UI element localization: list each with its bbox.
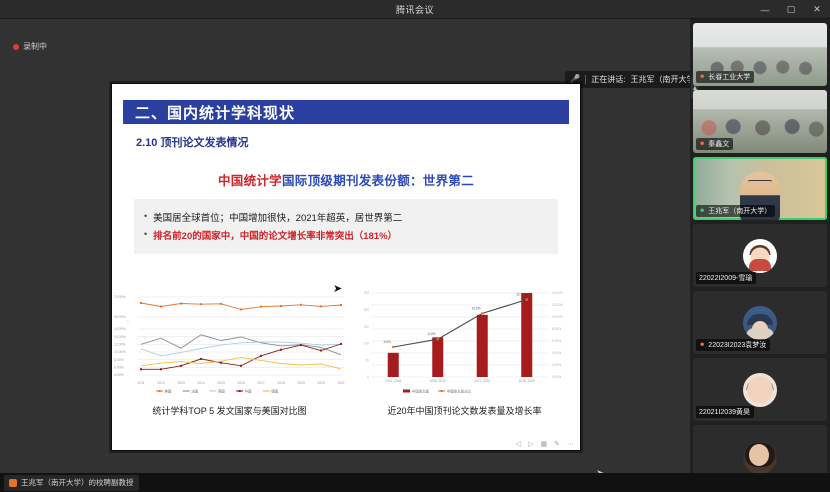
cursor-pointer-icon: ➤ <box>333 282 342 295</box>
svg-text:2001 -2005: 2001 -2005 <box>385 379 401 383</box>
bar-chart-svg: 250200150100500 14.00%12.00%10.00%8.00%6… <box>347 283 581 403</box>
svg-text:10.00%: 10.00% <box>114 350 126 354</box>
svg-text:8.00%: 8.00% <box>114 358 124 362</box>
svg-text:美国: 美国 <box>165 388 172 393</box>
speaking-prefix: 正在讲话: <box>591 74 625 85</box>
slide-footer: Zhaojun Wang (王兆军), web.stat.nankai.edu.… <box>112 450 580 451</box>
svg-text:16.00%: 16.00% <box>114 327 126 331</box>
os-taskbar[interactable]: 王兆军（南开大学）的校聘副教授 <box>0 473 830 492</box>
svg-text:2021: 2021 <box>337 381 345 385</box>
headline-red-part: 中国统计学 <box>218 174 282 188</box>
recording-indicator: 录制中 <box>13 41 47 52</box>
svg-text:2011: 2011 <box>137 381 144 385</box>
participant-tile[interactable]: ⚫ 长春工业大学 <box>693 23 827 86</box>
pen-icon[interactable]: ✎ <box>554 440 560 448</box>
bullet-text: 美国居全球首位；中国增加很快，2021年超英，居世界第二 <box>153 210 402 224</box>
tile-nameplate: 22022I2009-雪瑜 <box>696 272 756 284</box>
svg-text:150: 150 <box>364 325 370 329</box>
app-root: 腾讯会议 — ▢ ✕ 录制中 🎤 正在讲话: 王兆军（南开大学） › 二、国内统… <box>0 0 830 492</box>
svg-text:2020: 2020 <box>317 381 325 385</box>
participant-sidebar[interactable]: ▲ ⚫ 长春工业大学 ⚫ 秦鑫文 ⚫ 王兆军（南开大学） <box>690 19 830 473</box>
more-icon[interactable]: ⋯ <box>567 440 574 448</box>
avatar <box>743 373 777 407</box>
tile-nameplate: ⚫ 王兆军（南开大学） <box>696 205 775 217</box>
svg-text:2011 -2015: 2011 -2015 <box>474 379 490 383</box>
line-chart-svg: 70.00%50.00%16.00%14.00%12.00%10.00%8.00… <box>112 283 347 403</box>
headline-blue-part: 国际顶级期刊发表份额：世界第二 <box>282 174 474 188</box>
svg-text:2013: 2013 <box>177 381 185 385</box>
tile-nameplate: ⚫ 长春工业大学 <box>696 71 754 83</box>
svg-text:14.00%: 14.00% <box>552 291 563 295</box>
svg-text:2019: 2019 <box>297 381 305 385</box>
svg-text:2006 -2010: 2006 -2010 <box>430 379 446 383</box>
svg-text:2014: 2014 <box>197 381 205 385</box>
participant-name: 秦鑫文 <box>708 139 729 149</box>
svg-text:中国: 中国 <box>245 388 252 393</box>
svg-text:4.00%: 4.00% <box>552 351 561 355</box>
tile-nameplate: 22021I2039黄昊 <box>696 406 754 418</box>
svg-text:4.00%: 4.00% <box>114 373 124 377</box>
avatar <box>743 306 777 340</box>
svg-text:6.3%: 6.3% <box>428 332 435 336</box>
svg-text:100: 100 <box>364 342 370 346</box>
recording-label: 录制中 <box>23 41 47 52</box>
participant-tile[interactable]: ⚫ 22023I2023袁梦汝 <box>693 291 827 354</box>
svg-text:⋮: ⋮ <box>126 319 130 324</box>
glasses-icon <box>748 180 772 185</box>
window-title: 腾讯会议 <box>396 3 434 16</box>
svg-text:12.00%: 12.00% <box>552 303 563 307</box>
svg-text:2015: 2015 <box>217 381 225 385</box>
tile-nameplate: ⚫ 秦鑫文 <box>696 138 733 150</box>
taskbar-item-label: 王兆军（南开大学）的校聘副教授 <box>21 477 134 488</box>
svg-text:2016: 2016 <box>237 381 245 385</box>
grid-icon[interactable]: ▦ <box>541 440 548 448</box>
svg-text:50.00%: 50.00% <box>114 315 126 319</box>
bar-chart: 250200150100500 14.00%12.00%10.00%8.00%6… <box>347 283 581 403</box>
svg-text:14.00%: 14.00% <box>114 335 126 339</box>
participant-name: 22023I2023袁梦汝 <box>708 340 766 350</box>
svg-text:12.9%: 12.9% <box>516 293 525 297</box>
minimize-button[interactable]: — <box>752 0 778 19</box>
bullet-dot-icon: • <box>144 210 147 223</box>
list-item: • 排名前20的国家中，中国的论文增长率非常突出（181%） <box>144 228 548 242</box>
shared-slide: 二、国内统计学科现状 2.10 顶刊论文发表情况 中国统计学国际顶级期刊发表份额… <box>111 83 581 451</box>
svg-text:中国发文量占比: 中国发文量占比 <box>447 388 471 393</box>
bullet-dot-icon: • <box>144 228 147 241</box>
meeting-stage: 录制中 🎤 正在讲话: 王兆军（南开大学） › 二、国内统计学科现状 2.10 … <box>0 19 690 473</box>
bullet-text: 排名前20的国家中，中国的论文增长率非常突出（181%） <box>153 228 397 242</box>
slide-subsection: 2.10 顶刊论文发表情况 <box>136 134 580 150</box>
slide-bullet-list: • 美国居全球首位；中国增加很快，2021年超英，居世界第二 • 排名前20的国… <box>134 199 558 254</box>
svg-text:德国: 德国 <box>271 388 278 393</box>
participant-name: 22022I2009-雪瑜 <box>699 273 752 283</box>
svg-text:10.00%: 10.00% <box>552 315 563 319</box>
line-chart: 70.00%50.00%16.00%14.00%12.00%10.00%8.00… <box>112 283 347 403</box>
mic-on-icon: ⚫ <box>699 207 705 215</box>
participant-tile[interactable]: ⚫ 22022I2014惠馨旬 <box>693 425 827 473</box>
mic-muted-icon: ⚫ <box>699 73 705 81</box>
window-controls: — ▢ ✕ <box>752 0 830 19</box>
app-icon <box>9 479 17 487</box>
svg-text:10.6%: 10.6% <box>472 306 481 310</box>
svg-text:法国: 法国 <box>191 388 198 393</box>
participant-name: 王兆军（南开大学） <box>708 206 771 216</box>
svg-text:5.0%: 5.0% <box>384 340 391 344</box>
svg-text:2017: 2017 <box>257 381 265 385</box>
svg-text:中国发文量: 中国发文量 <box>412 388 430 393</box>
svg-text:2012: 2012 <box>157 381 165 385</box>
participant-tile[interactable]: 22022I2009-雪瑜 <box>693 224 827 287</box>
prev-icon[interactable]: ◁ <box>516 440 521 448</box>
svg-text:0.00%: 0.00% <box>552 375 561 379</box>
record-dot-icon <box>13 44 19 50</box>
participant-tile[interactable]: 22021I2039黄昊 <box>693 358 827 421</box>
close-button[interactable]: ✕ <box>804 0 830 19</box>
avatar <box>743 239 777 273</box>
slide-band-title: 二、国内统计学科现状 <box>135 102 295 123</box>
slide-footer-venue: 长春工业大学, 2023 年 12 月 22 日 <box>383 450 580 451</box>
tile-nameplate: ⚫ 22023I2023袁梦汝 <box>696 339 770 351</box>
svg-text:0: 0 <box>367 375 369 379</box>
svg-text:2018: 2018 <box>277 381 285 385</box>
svg-text:8.00%: 8.00% <box>552 327 561 331</box>
line-chart-column: 70.00%50.00%16.00%14.00%12.00%10.00%8.00… <box>112 283 347 428</box>
slide-charts: 70.00%50.00%16.00%14.00%12.00%10.00%8.00… <box>112 283 581 428</box>
svg-text:6.00%: 6.00% <box>552 339 561 343</box>
participant-tile[interactable]: ⚫ 秦鑫文 <box>693 90 827 153</box>
svg-text:70.00%: 70.00% <box>114 295 126 299</box>
slide-headline: 中国统计学国际顶级期刊发表份额：世界第二 <box>112 170 580 189</box>
avatar <box>743 440 777 474</box>
bar-chart-caption: 近20年中国顶刊论文数发表量及增长率 <box>347 404 581 417</box>
list-item: • 美国居全球首位；中国增加很快，2021年超英，居世界第二 <box>144 210 548 224</box>
svg-text:2016 -2020: 2016 -2020 <box>519 379 535 383</box>
maximize-button[interactable]: ▢ <box>778 0 804 19</box>
participant-name: 长春工业大学 <box>708 72 750 82</box>
svg-text:200: 200 <box>364 308 370 312</box>
svg-text:6.00%: 6.00% <box>114 366 124 370</box>
svg-text:英国: 英国 <box>218 388 225 393</box>
taskbar-item[interactable]: 王兆军（南开大学）的校聘副教授 <box>4 475 139 491</box>
mic-muted-icon: ⚫ <box>699 140 705 148</box>
participant-name: 22021I2039黄昊 <box>699 407 750 417</box>
window-titlebar: 腾讯会议 — ▢ ✕ <box>0 0 830 19</box>
svg-text:50: 50 <box>365 358 369 362</box>
slide-section-band: 二、国内统计学科现状 <box>123 100 569 124</box>
play-icon[interactable]: ▷ <box>528 440 533 448</box>
line-chart-caption: 统计学科TOP 5 发文国家与美国对比图 <box>112 404 347 417</box>
bar-chart-column: 250200150100500 14.00%12.00%10.00%8.00%6… <box>347 283 581 428</box>
svg-text:250: 250 <box>364 291 370 295</box>
divider <box>585 75 586 84</box>
svg-text:12.00%: 12.00% <box>114 343 126 347</box>
slide-toolbar[interactable]: ◁ ▷ ▦ ✎ ⋯ <box>516 440 574 448</box>
participant-tile-active-speaker[interactable]: ⚫ 王兆军（南开大学） <box>693 157 827 220</box>
mic-muted-icon: ⚫ <box>699 341 705 349</box>
svg-text:2.00%: 2.00% <box>552 363 561 367</box>
slide-footer-author: Zhaojun Wang (王兆军), web.stat.nankai.edu.… <box>112 450 383 451</box>
